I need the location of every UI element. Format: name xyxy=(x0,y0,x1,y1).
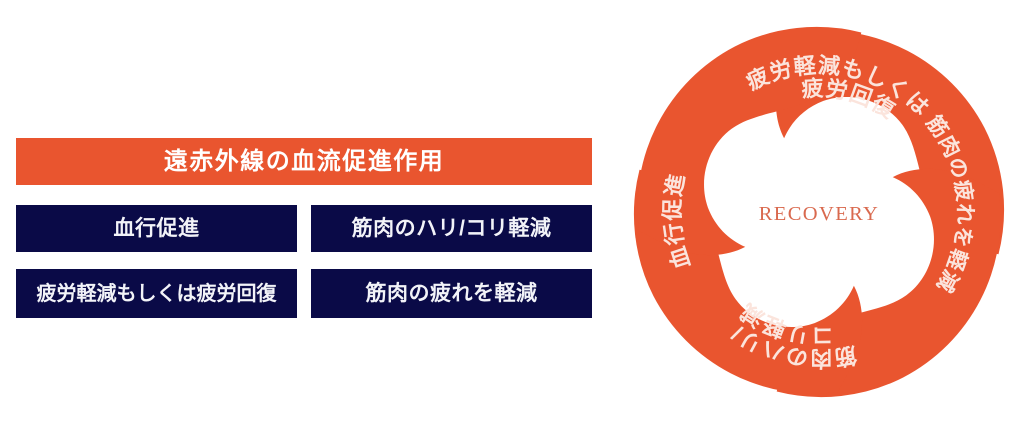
recovery-center-label: RECOVERY xyxy=(759,203,880,225)
benefit-cell-label: 筋肉の疲れを軽減 xyxy=(366,283,538,304)
benefit-cell-blood-circulation: 血行促進 xyxy=(16,205,297,252)
benefits-grid: 血行促進 筋肉のハリ/コリ軽減 疲労軽減もしくは疲労回復 筋肉の疲れを軽減 xyxy=(16,205,592,318)
panel-header-label: 遠赤外線の血流促進作用 xyxy=(164,150,445,174)
panel-header-bar: 遠赤外線の血流促進作用 xyxy=(16,138,592,185)
benefit-cell-muscle-stiffness: 筋肉のハリ/コリ軽減 xyxy=(311,205,592,252)
slide-canvas: 遠赤外線の血流促進作用 血行促進 筋肉のハリ/コリ軽減 疲労軽減もしくは疲労回復… xyxy=(0,0,1024,426)
benefit-cell-fatigue-recovery: 疲労軽減もしくは疲労回復 xyxy=(16,269,297,318)
benefit-cell-muscle-fatigue: 筋肉の疲れを軽減 xyxy=(311,269,592,318)
benefits-panel: 遠赤外線の血流促進作用 血行促進 筋肉のハリ/コリ軽減 疲労軽減もしくは疲労回復… xyxy=(16,138,592,318)
benefit-cell-label: 血行促進 xyxy=(114,218,200,239)
benefit-cell-label: 筋肉のハリ/コリ軽減 xyxy=(352,218,552,239)
recovery-cycle-diagram: RECOVERY 疲労軽減もしくは 疲労回復 筋肉の疲れを軽減 筋肉のハリ/ コ… xyxy=(620,0,1024,426)
benefit-cell-label: 疲労軽減もしくは疲労回復 xyxy=(37,284,277,304)
